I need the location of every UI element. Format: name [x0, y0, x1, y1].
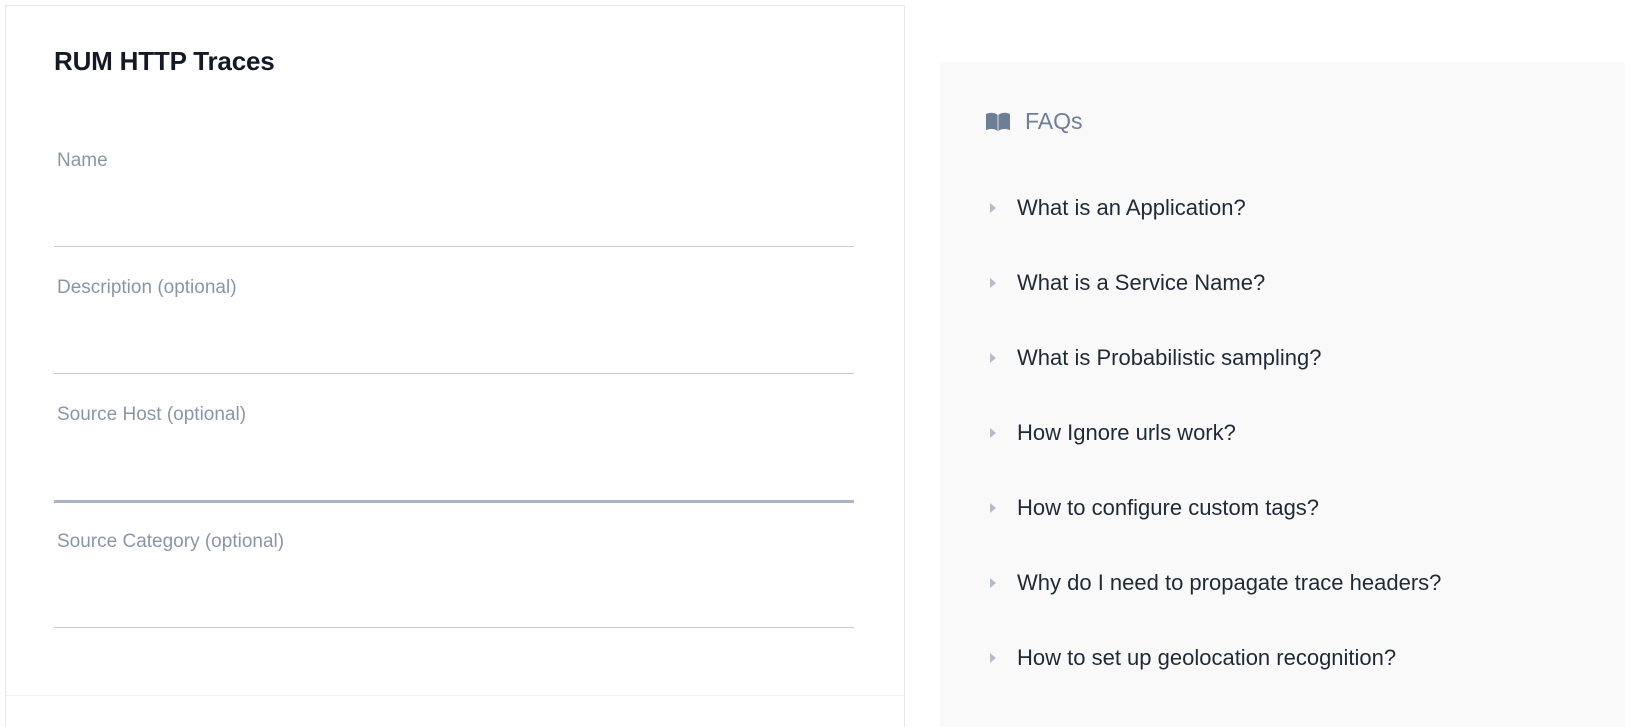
- faq-item[interactable]: What is an Application?: [953, 170, 1625, 245]
- chevron-right-icon: [985, 503, 1001, 513]
- form-field-name[interactable]: Name: [54, 131, 854, 258]
- faq-header: FAQs: [985, 110, 1083, 133]
- faq-item-label: How Ignore urls work?: [1017, 422, 1236, 444]
- card-footer-divider: [6, 695, 904, 696]
- faq-item-label: How to configure custom tags?: [1017, 497, 1319, 519]
- description-input[interactable]: [57, 310, 854, 366]
- faq-list: What is an Application? What is a Servic…: [953, 170, 1625, 695]
- form-field-source-host[interactable]: Source Host (optional): [54, 385, 854, 512]
- faq-item[interactable]: Why do I need to propagate trace headers…: [953, 545, 1625, 620]
- source-category-input[interactable]: [57, 564, 854, 620]
- rum-http-traces-card: RUM HTTP Traces Name Description (option…: [5, 5, 905, 727]
- field-label-name: Name: [57, 151, 108, 170]
- form-field-source-category[interactable]: Source Category (optional): [54, 512, 854, 639]
- faq-panel: FAQs What is an Application? What is a S…: [940, 62, 1625, 727]
- chevron-right-icon: [985, 203, 1001, 213]
- name-input[interactable]: [57, 183, 854, 239]
- page-title: RUM HTTP Traces: [54, 46, 274, 77]
- faq-item[interactable]: What is a Service Name?: [953, 245, 1625, 320]
- faq-item[interactable]: How to configure custom tags?: [953, 470, 1625, 545]
- field-underline-source-host: [54, 500, 854, 503]
- faq-item-label: What is an Application?: [1017, 197, 1246, 219]
- field-underline-name: [54, 246, 854, 247]
- form-field-description[interactable]: Description (optional): [54, 258, 854, 385]
- field-label-source-category: Source Category (optional): [57, 532, 284, 551]
- chevron-right-icon: [985, 653, 1001, 663]
- faq-item[interactable]: What is Probabilistic sampling?: [953, 320, 1625, 395]
- faq-item-label: What is a Service Name?: [1017, 272, 1265, 294]
- field-underline-source-category: [54, 627, 854, 628]
- faq-item-label: Why do I need to propagate trace headers…: [1017, 572, 1441, 594]
- chevron-right-icon: [985, 353, 1001, 363]
- chevron-right-icon: [985, 578, 1001, 588]
- faq-title: FAQs: [1025, 110, 1083, 133]
- faq-item-label: How to set up geolocation recognition?: [1017, 647, 1396, 669]
- form-fields-group: Name Description (optional) Source Host …: [54, 131, 854, 639]
- field-label-source-host: Source Host (optional): [57, 405, 246, 424]
- chevron-right-icon: [985, 428, 1001, 438]
- field-label-description: Description (optional): [57, 278, 237, 297]
- open-book-icon: [985, 111, 1011, 133]
- faq-item[interactable]: How to set up geolocation recognition?: [953, 620, 1625, 695]
- source-host-input[interactable]: [57, 437, 854, 493]
- faq-item-label: What is Probabilistic sampling?: [1017, 347, 1321, 369]
- chevron-right-icon: [985, 278, 1001, 288]
- faq-item[interactable]: How Ignore urls work?: [953, 395, 1625, 470]
- field-underline-description: [54, 373, 854, 374]
